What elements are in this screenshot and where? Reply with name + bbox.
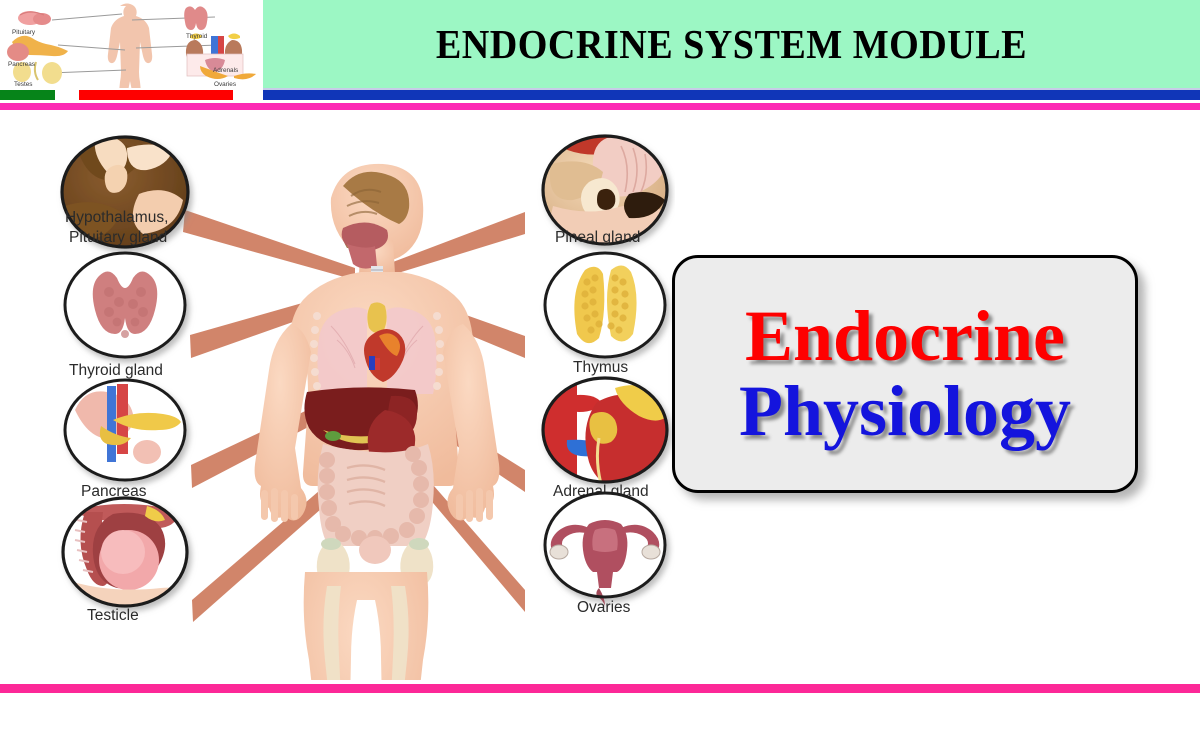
gland-label-thymus: Thymus [573, 359, 628, 376]
logo-label-pancreas: Pancreas [8, 61, 35, 68]
endocrine-physiology-card: Endocrine Physiology [672, 255, 1138, 493]
gland-label-thyroid: Thyroid gland [69, 362, 163, 379]
card-line-physiology: Physiology [739, 374, 1071, 449]
endocrine-system-diagram: Hypothalamus, Pituitary gland Thyroid gl… [55, 120, 675, 680]
footer-area [0, 693, 1200, 739]
logo-label-ovaries: Ovaries [214, 81, 236, 88]
logo-label-pituitary: Pituitary [12, 29, 36, 36]
blue-rule [263, 90, 1200, 100]
logo-label-testes: Testes [14, 81, 32, 88]
gland-circle-adrenal [543, 378, 670, 488]
card-line-endocrine: Endocrine [745, 299, 1065, 374]
magenta-rule-bottom [0, 684, 1200, 693]
logo-label-adrenals: Adrenals [213, 67, 238, 74]
gland-label-testicle: Testicle [87, 607, 139, 624]
magenta-rule-top [0, 103, 1200, 110]
page-title: ENDOCRINE SYSTEM MODULE [296, 0, 1167, 88]
gland-label-hypothalamus-line2: Pituitary gland [69, 229, 167, 246]
gland-circle-thyroid [65, 253, 185, 357]
gland-label-ovaries: Ovaries [577, 599, 631, 616]
header-logo-thumbnail: Pituitary Thyroid Pancreas Adrenals Test… [0, 0, 263, 88]
page-header: Pituitary Thyroid Pancreas Adrenals Test… [0, 0, 1200, 88]
gland-circle-thymus [545, 253, 665, 357]
gland-label-hypothalamus-line1: Hypothalamus, [65, 209, 168, 226]
gland-label-pineal: Pineal gland [555, 229, 640, 246]
gland-circle-ovaries [545, 493, 665, 606]
gland-circle-pancreas [65, 380, 185, 480]
red-rule [79, 90, 233, 100]
green-rule [0, 90, 55, 100]
logo-label-thyroid: Thyroid [186, 33, 208, 40]
